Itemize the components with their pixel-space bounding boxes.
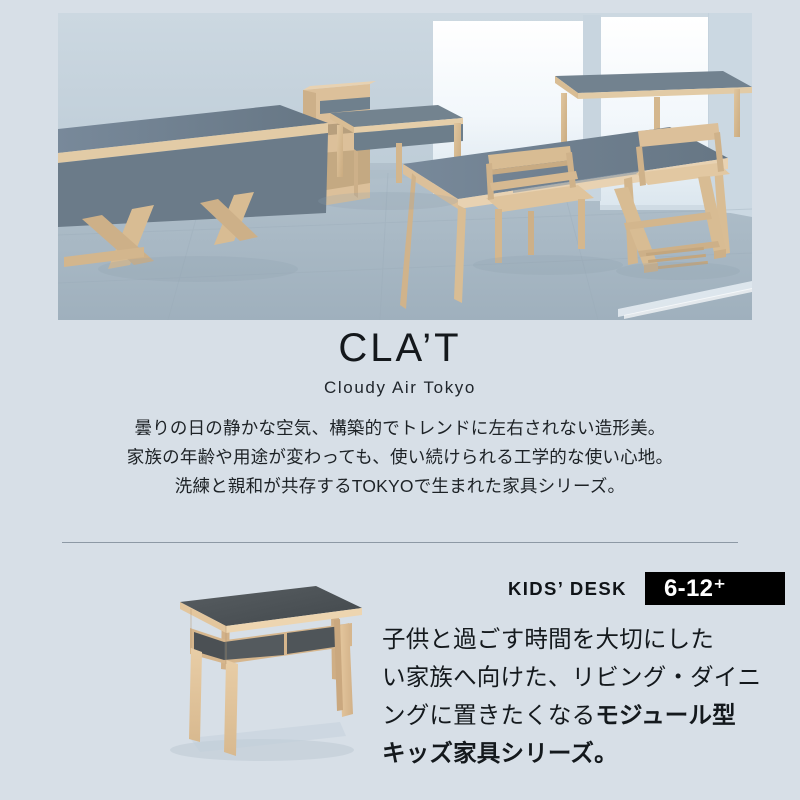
- brand-subtitle: Cloudy Air Tokyo: [0, 379, 800, 396]
- product-copy-line-3-normal: ングに置きたくなる: [382, 702, 595, 728]
- product-category-label: KIDS’ DESK: [508, 578, 627, 600]
- product-copy-line-3: ングに置きたくなるモジュール型: [382, 696, 800, 734]
- page-title: CLA’T: [0, 328, 800, 368]
- product-kicker: KIDS’ DESK: [508, 573, 627, 605]
- promo-page: CLA’T Cloudy Air Tokyo 曇りの日の静かな空気、構築的でトレ…: [0, 0, 800, 800]
- age-range-text: 6-12⁺: [664, 577, 726, 601]
- kids-desk-image: [150, 560, 370, 775]
- product-description: 子供と過ごす時間を大切にした い家族へ向けた、リビング・ダイニ ングに置きたくな…: [382, 620, 800, 772]
- product-copy-line-3-bold: モジュール型: [595, 702, 736, 728]
- product-copy-line-4: キッズ家具シリーズ。: [382, 734, 800, 772]
- description-line-2: 家族の年齢や用途が変わっても、使い続けられる工学的な使い心地。: [0, 443, 800, 472]
- description-line-1: 曇りの日の静かな空気、構築的でトレンドに左右されない造形美。: [0, 414, 800, 443]
- age-range-badge: 6-12⁺: [645, 572, 785, 605]
- product-copy-line-2: い家族へ向けた、リビング・ダイニ: [382, 658, 800, 696]
- hero-showroom-image: [58, 13, 752, 320]
- section-divider: [62, 542, 738, 543]
- product-copy-line-1: 子供と過ごす時間を大切にした: [382, 620, 800, 658]
- description-line-3: 洗練と親和が共存するTOKYOで生まれた家具シリーズ。: [0, 472, 800, 501]
- brand-description: 曇りの日の静かな空気、構築的でトレンドに左右されない造形美。 家族の年齢や用途が…: [0, 414, 800, 501]
